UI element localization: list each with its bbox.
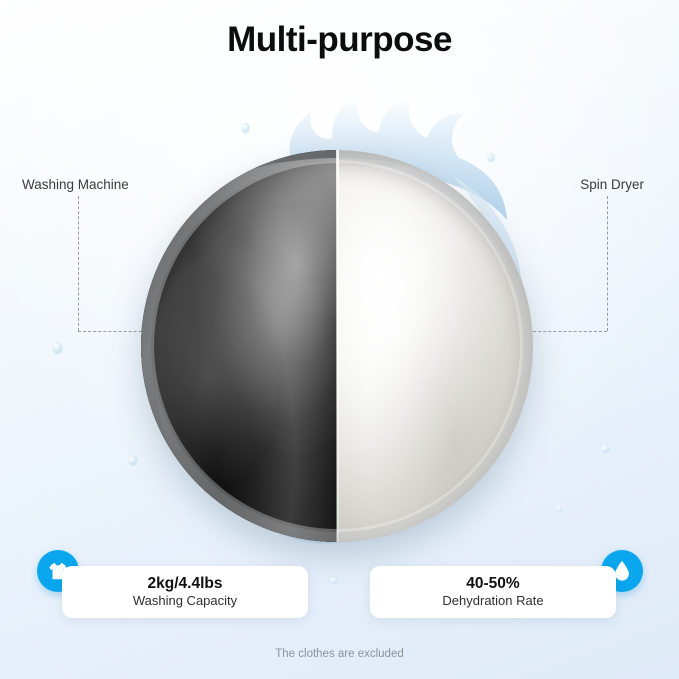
- page-title: Multi-purpose: [0, 20, 679, 60]
- water-droplet-icon: [601, 444, 610, 455]
- spec-card-dehydration-rate: 40-50% Dehydration Rate: [370, 566, 616, 618]
- washer-drum-illustration: [115, 92, 567, 544]
- leader-line-right-vertical: [607, 196, 608, 331]
- leader-line-left-vertical: [78, 196, 79, 331]
- spec-label: Dehydration Rate: [442, 593, 543, 610]
- product-feature-poster: Multi-purpose Washing Machine Spin Dryer: [0, 0, 679, 679]
- water-droplet-icon: [128, 455, 138, 467]
- water-droplet-icon: [52, 342, 63, 355]
- drum-half-drying: [337, 150, 533, 542]
- spec-value: 2kg/4.4lbs: [148, 574, 223, 593]
- callout-label-spin-dryer: Spin Dryer: [580, 177, 644, 192]
- water-droplet-icon: [556, 505, 563, 514]
- spec-card-washing-capacity: 2kg/4.4lbs Washing Capacity: [62, 566, 308, 618]
- spec-label: Washing Capacity: [133, 593, 237, 610]
- drum-half-washing: [141, 150, 337, 542]
- water-droplet-icon: [330, 576, 338, 586]
- spec-value: 40-50%: [466, 574, 519, 593]
- drum-body: [141, 150, 533, 542]
- footnote: The clothes are excluded: [0, 648, 679, 660]
- water-droplet-icon: [241, 123, 250, 134]
- water-droplet-icon: [487, 153, 495, 163]
